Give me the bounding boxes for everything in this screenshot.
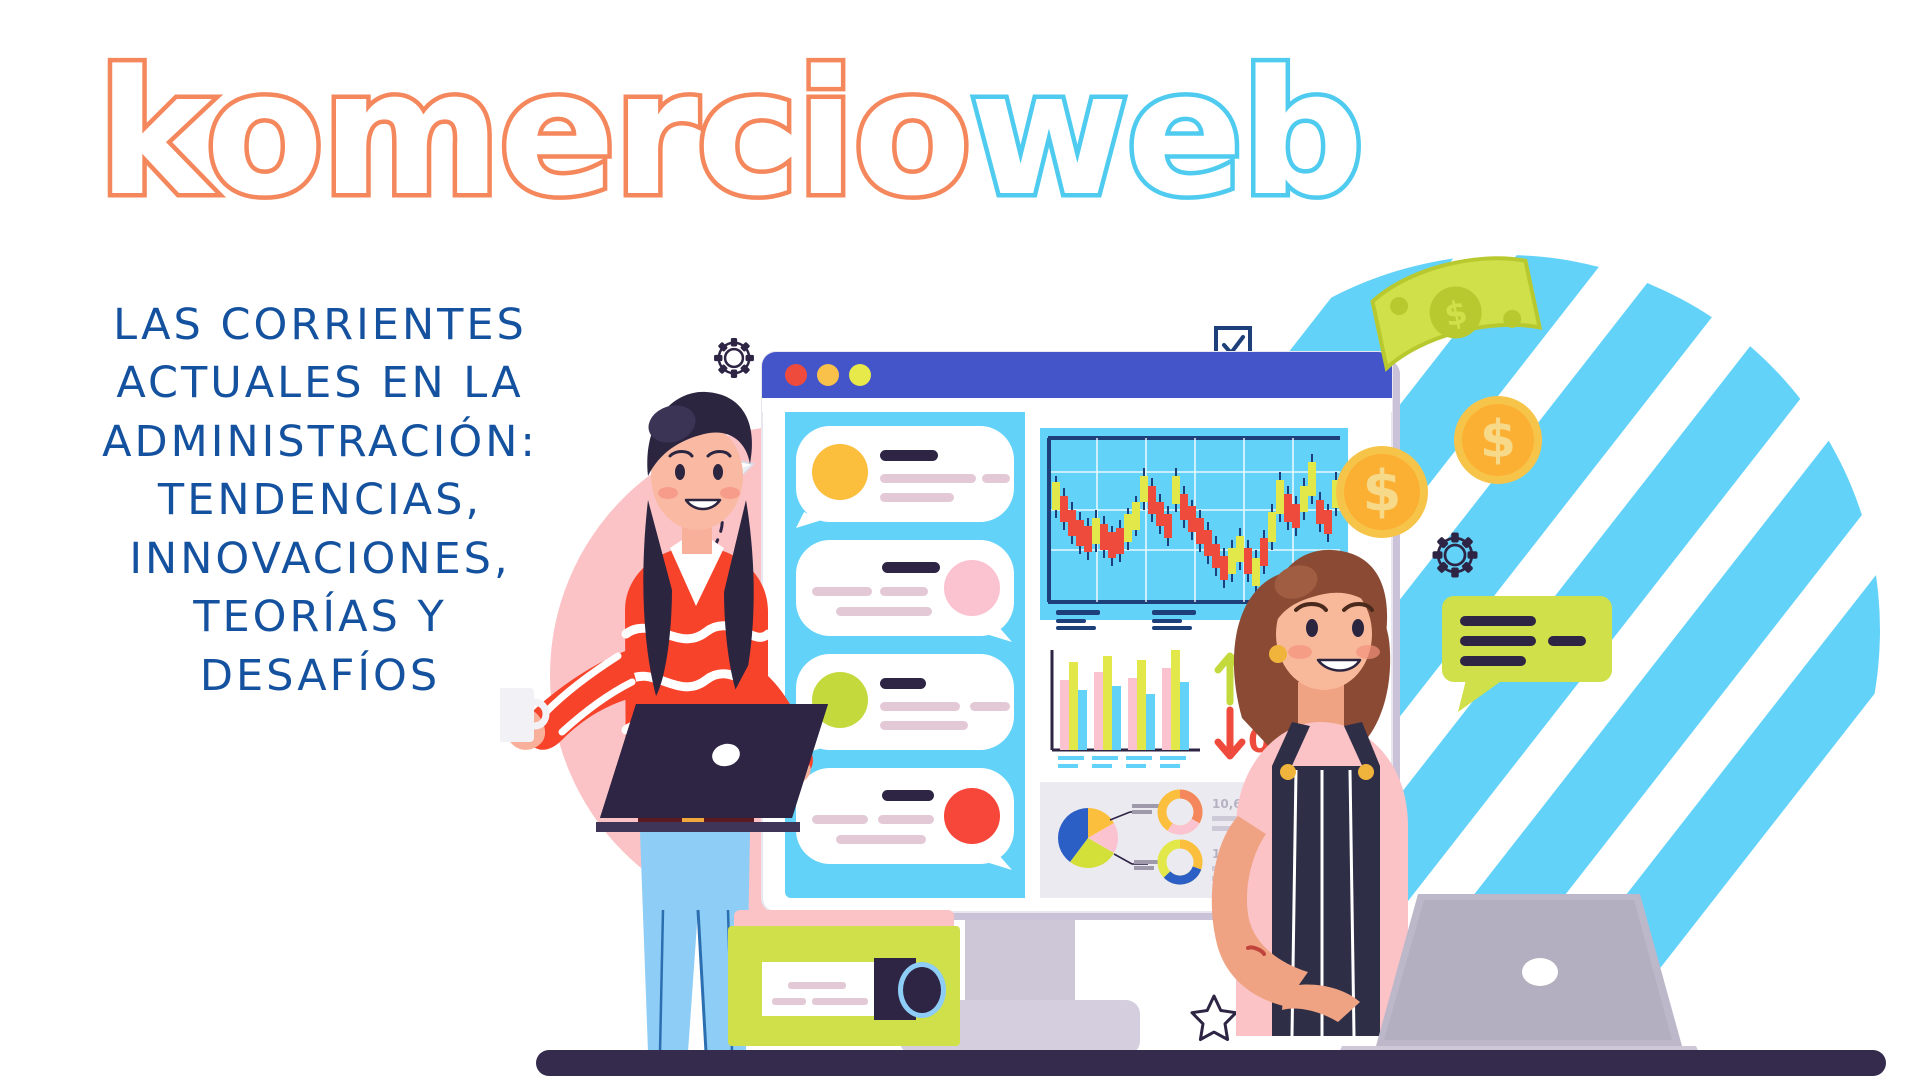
feed-item[interactable]	[796, 540, 1014, 642]
person-right	[1212, 550, 1408, 1036]
svg-text:$: $	[1480, 410, 1516, 470]
dollar-coin-icon: $	[1454, 396, 1542, 484]
laptop-left	[596, 704, 828, 832]
star-icon	[1192, 996, 1236, 1040]
hero-illustration: 0,75 $ 0,05 $	[500, 210, 1920, 1080]
dollar-coin-icon: $	[1336, 446, 1428, 538]
poster-canvas: komercioweb LAS CORRIENTES ACTUALES EN L…	[0, 0, 1920, 1080]
brand-logo-part2: web	[970, 33, 1363, 234]
avatar	[944, 560, 1000, 616]
office-device	[728, 910, 960, 1046]
feed-item[interactable]	[796, 768, 1014, 870]
gear-icon	[714, 338, 754, 378]
feed-item[interactable]	[796, 426, 1014, 528]
window-minimize-dot[interactable]	[817, 364, 839, 386]
brand-logo-part1: komercio	[98, 33, 970, 234]
avatar	[812, 444, 868, 500]
window-close-dot[interactable]	[785, 364, 807, 386]
brand-logo: komercioweb	[0, 48, 1460, 220]
window-maximize-dot[interactable]	[849, 364, 871, 386]
feed-item[interactable]	[796, 654, 1014, 756]
svg-text:$: $	[1363, 459, 1402, 524]
avatar	[944, 788, 1000, 844]
desk-surface	[536, 1050, 1886, 1076]
